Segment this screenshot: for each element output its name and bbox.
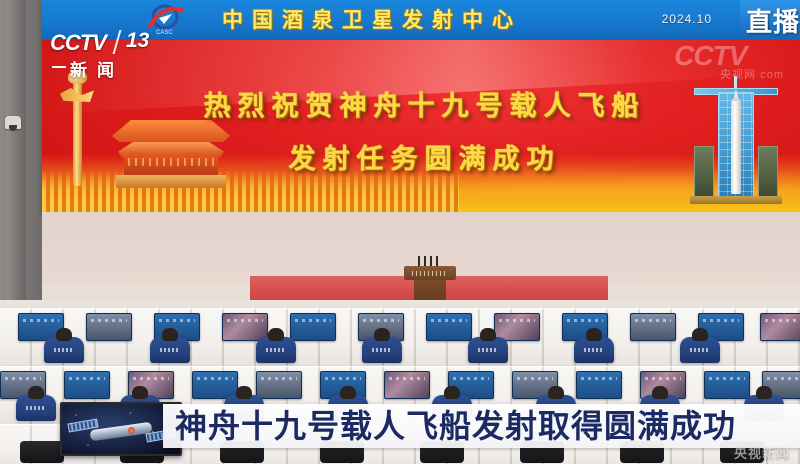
huabiao-column-illustration (66, 68, 88, 186)
channel-subtitle: 新闻 (70, 56, 124, 81)
operator (44, 337, 84, 363)
operator (16, 395, 56, 421)
caption-headline: 神舟十九号载人飞船发射取得圆满成功 (175, 407, 736, 445)
logo-divider (113, 30, 122, 54)
operator (574, 337, 614, 363)
broadcast-screenshot: CASC 中国酒泉卫星发射中心 2024.10 直播 (0, 0, 800, 464)
operator (362, 337, 402, 363)
operator (468, 337, 508, 363)
rocket-launch-gantry-illustration (690, 76, 782, 204)
channel-logo-bug: CCTV 13 新闻 (50, 30, 168, 80)
console-row-back (0, 308, 800, 366)
date-overlay: 2024.10 (662, 12, 712, 26)
logo-dash (52, 66, 66, 68)
banner-header-title: 中国酒泉卫星发射中心 (222, 4, 522, 34)
operator (256, 337, 296, 363)
left-wall-pillar (0, 0, 42, 320)
operator (150, 337, 190, 363)
tiananmen-illustration (112, 106, 230, 188)
security-camera-icon (5, 116, 21, 129)
lower-third-caption: 神舟十九号载人飞船发射取得圆满成功 (163, 404, 800, 448)
operator (680, 337, 720, 363)
channel-number: 13 (126, 29, 149, 53)
live-badge: 直播 (740, 0, 800, 40)
cctv-wordmark: CCTV (50, 30, 106, 56)
